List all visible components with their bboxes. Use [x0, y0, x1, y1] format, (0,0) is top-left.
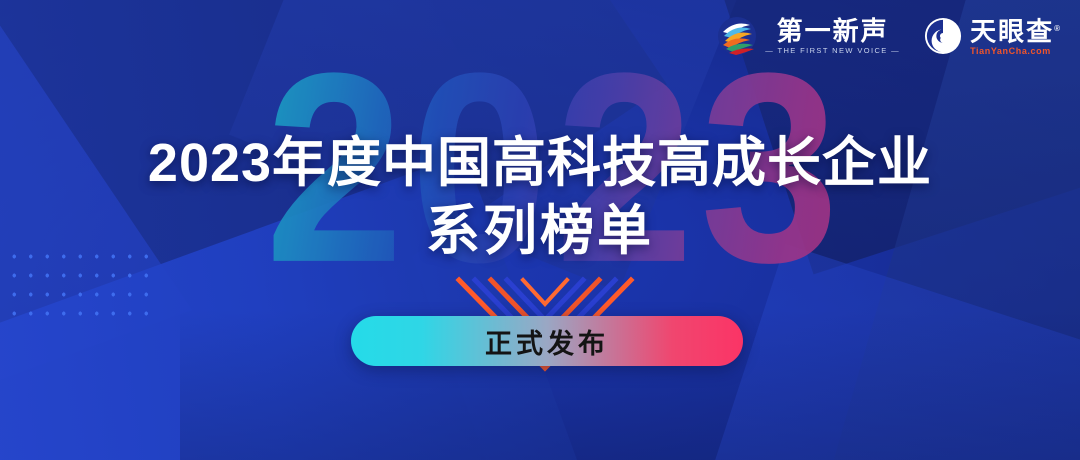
trademark-icon: ®	[1054, 24, 1062, 33]
diyixinsheng-wordmark: 第一新声 — THE FIRST NEW VOICE —	[765, 17, 900, 56]
tianyancha-domain: TianYanCha.com	[970, 45, 1051, 57]
logo-tianyancha[interactable]: 天眼查® TianYanCha.com	[924, 15, 1062, 58]
diyixinsheng-tagline-en: — THE FIRST NEW VOICE —	[765, 45, 900, 56]
tianyancha-mark-icon	[924, 17, 962, 55]
diyixinsheng-mark-icon	[717, 16, 757, 56]
publish-status-label: 正式发布	[485, 322, 609, 361]
logo-diyixinsheng[interactable]: 第一新声 — THE FIRST NEW VOICE —	[717, 16, 900, 56]
page-title-line-1: 2023年度中国高科技高成长企业	[0, 132, 1080, 194]
page-title-line-2: 系列榜单	[0, 200, 1080, 262]
tianyancha-name-cn: 天眼查®	[970, 15, 1062, 46]
tianyancha-wordmark: 天眼查® TianYanCha.com	[970, 15, 1062, 58]
publish-status-button[interactable]: 正式发布	[351, 316, 743, 366]
promo-banner: 2023 2023年度中国高科技高成长企业 系列榜单 正式发布	[0, 0, 1080, 460]
headline-block: 2023年度中国高科技高成长企业 系列榜单	[0, 132, 1080, 262]
logo-bar: 第一新声 — THE FIRST NEW VOICE — 天眼查® TianYa…	[717, 12, 1062, 60]
diyixinsheng-name-cn: 第一新声	[777, 17, 889, 45]
tianyancha-name-cn-text: 天眼查	[970, 16, 1054, 46]
